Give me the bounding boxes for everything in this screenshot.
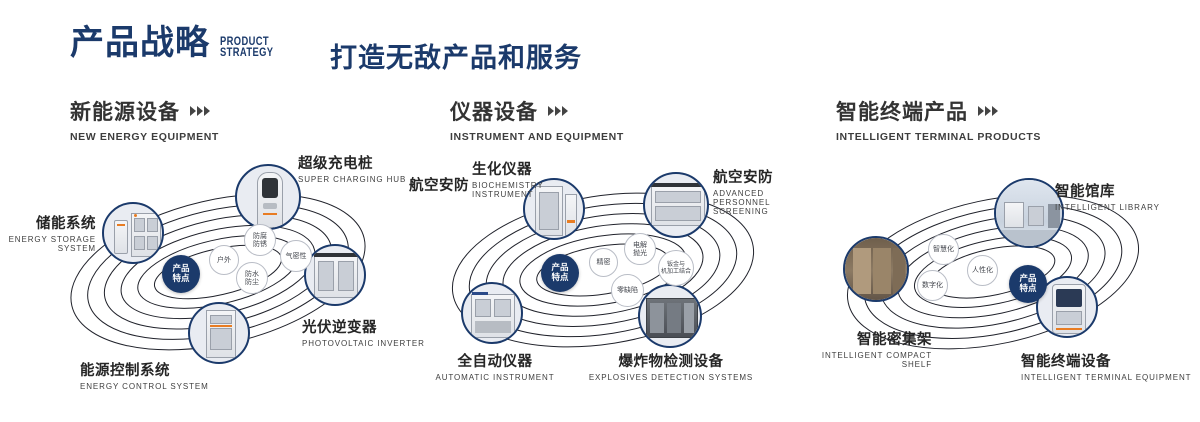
node-intelligent-library[interactable] [994, 178, 1064, 248]
section-title-instrument: 仪器设备 INSTRUMENT AND EQUIPMENT [450, 96, 624, 143]
caption-energy-control-system: 能源控制系统 ENERGY CONTROL SYSTEM [80, 359, 209, 391]
caption-en: PHOTOVOLTAIC INVERTER [302, 339, 425, 348]
pill-line1: 产品 [551, 263, 568, 273]
caption-en: ADVANCED PERSONNEL SCREENING [713, 189, 807, 216]
node-photovoltaic-inverter[interactable] [304, 244, 366, 306]
page-subtitle: 打造无敌产品和服务 [330, 36, 582, 75]
pill-digital[interactable]: 数字化 [917, 270, 948, 301]
caption-en: INTELLIGENT COMPACT SHELF [807, 351, 932, 369]
caption-intelligent-compact-shelf: 智能密集架 INTELLIGENT COMPACT SHELF [807, 328, 932, 369]
pill-waterproof[interactable]: 防水 防尘 [236, 262, 268, 294]
page-header: 产品战略 PRODUCT STRATEGY [70, 26, 288, 60]
intelligent-library-photo [996, 180, 1062, 246]
caption-cn: 生化仪器 [472, 158, 550, 179]
caption-cn: 光伏逆变器 [302, 316, 425, 337]
section-title-cn: 仪器设备 [450, 96, 538, 126]
product-strategy-infographic: 产品战略 PRODUCT STRATEGY 打造无敌产品和服务 新能源设备 NE… [0, 0, 1200, 422]
chevron-right-icon [978, 106, 998, 116]
pill-line2: 防锈 [253, 240, 267, 249]
caption-cn: 全自动仪器 [420, 350, 570, 371]
caption-automatic-instrument: 全自动仪器 AUTOMATIC INSTRUMENT [420, 350, 570, 382]
pill-line1: 气密性 [286, 252, 307, 261]
node-super-charging-hub[interactable] [235, 164, 301, 230]
caption-cn: 爆炸物检测设备 [588, 350, 754, 371]
caption-advanced-personnel-screening: 航空安防 ADVANCED PERSONNEL SCREENING [713, 166, 807, 216]
caption-en: BIOCHEMISTRY INSTRUMENT [472, 181, 550, 199]
pill-electropolishing[interactable]: 电解 抛光 [624, 233, 656, 265]
caption-cn: 智能终端设备 [1021, 350, 1191, 371]
pill-outdoor[interactable]: 户外 [209, 245, 239, 275]
charging-hub-photo [237, 166, 299, 228]
cluster-intelligent-terminal: 智慧化 数字化 人性化 产品 特点 智能馆库 INTELLIGENT LIBRA… [815, 150, 1200, 390]
compact-shelf-photo [845, 238, 907, 300]
pill-line2: 特点 [1019, 284, 1036, 294]
caption-cn: 储能系统 [0, 212, 96, 233]
pill-line2: 特点 [172, 274, 189, 284]
node-energy-storage-system[interactable] [102, 202, 164, 264]
pill-line2: 防尘 [245, 278, 259, 287]
pill-zero-defect[interactable]: 零缺陷 [611, 274, 644, 307]
cluster-instrument: 产品 特点 精密 电解 抛光 零缺陷 钣金与 机加工结合 航空安防 生化仪器 B… [425, 150, 825, 390]
pill-line1: 精密 [597, 258, 611, 267]
node-intelligent-compact-shelf[interactable] [843, 236, 909, 302]
caption-energy-storage-system: 储能系统 ENERGY STORAGE SYSTEM [0, 212, 96, 253]
section-title-new-energy: 新能源设备 NEW ENERGY EQUIPMENT [70, 96, 219, 143]
pill-product-features[interactable]: 产品 特点 [1009, 265, 1047, 303]
explosives-detection-photo [640, 286, 700, 346]
chevron-right-icon [548, 106, 568, 116]
control-system-photo [190, 304, 248, 362]
energy-storage-photo [104, 204, 162, 262]
pill-line1: 钣金与 [667, 261, 685, 269]
pill-line1: 数字化 [922, 281, 943, 290]
caption-explosives-detection-systems: 爆炸物检测设备 EXPLOSIVES DETECTION SYSTEMS [588, 350, 754, 382]
node-energy-control-system[interactable] [188, 302, 250, 364]
pill-product-features[interactable]: 产品 特点 [162, 255, 200, 293]
pill-line2: 特点 [551, 273, 568, 283]
caption-en: AUTOMATIC INSTRUMENT [420, 373, 570, 382]
section-title-intelligent-terminal: 智能终端产品 INTELLIGENT TERMINAL PRODUCTS [836, 96, 1041, 143]
caption-en: EXPLOSIVES DETECTION SYSTEMS [588, 373, 754, 382]
page-title-en-line2: STRATEGY [220, 47, 273, 58]
caption-cn: 智能馆库 [1055, 180, 1160, 201]
chevron-right-icon [190, 106, 210, 116]
caption-cn: 航空安防 [409, 174, 469, 195]
automatic-instrument-photo [463, 284, 521, 342]
page-title-cn: 产品战略 [70, 26, 210, 60]
section-title-cn: 新能源设备 [70, 96, 180, 126]
caption-photovoltaic-inverter: 光伏逆变器 PHOTOVOLTAIC INVERTER [302, 316, 425, 348]
caption-en: ENERGY STORAGE SYSTEM [0, 235, 96, 253]
pill-line1: 产品 [172, 264, 189, 274]
caption-intelligent-terminal-equipment: 智能终端设备 INTELLIGENT TERMINAL EQUIPMENT [1021, 350, 1191, 382]
section-title-en: INSTRUMENT AND EQUIPMENT [450, 131, 624, 143]
pill-line1: 防腐 [253, 232, 267, 241]
caption-cn: 能源控制系统 [80, 359, 209, 380]
section-title-en: INTELLIGENT TERMINAL PRODUCTS [836, 131, 1041, 143]
caption-intelligent-library: 智能馆库 INTELLIGENT LIBRARY [1055, 180, 1160, 212]
node-advanced-personnel-screening[interactable] [643, 172, 709, 238]
caption-cn: 航空安防 [713, 166, 807, 187]
pill-line1: 智慧化 [933, 245, 954, 254]
page-title-en: PRODUCT STRATEGY [220, 36, 273, 58]
section-title-en: NEW ENERGY EQUIPMENT [70, 131, 219, 143]
node-explosives-detection-systems[interactable] [638, 284, 702, 348]
pill-humanized[interactable]: 人性化 [967, 255, 998, 286]
caption-en: INTELLIGENT LIBRARY [1055, 203, 1160, 212]
pill-anticorrosion[interactable]: 防腐 防锈 [244, 224, 276, 256]
pill-line1: 电解 [633, 241, 647, 250]
pill-precision[interactable]: 精密 [589, 248, 618, 277]
pill-line2: 机加工结合 [661, 268, 691, 276]
cluster-new-energy: 产品 特点 户外 防腐 防锈 防水 防尘 气密性 储能系统 ENERGY STO… [40, 150, 430, 390]
caption-super-charging-hub: 超级充电桩 SUPER CHARGING HUB [298, 152, 406, 184]
caption-cn: 超级充电桩 [298, 152, 406, 173]
pill-line1: 零缺陷 [617, 286, 638, 295]
screening-photo [645, 174, 707, 236]
pill-line2: 抛光 [633, 249, 647, 258]
node-automatic-instrument[interactable] [461, 282, 523, 344]
caption-biochemistry-instrument: 生化仪器 BIOCHEMISTRY INSTRUMENT [472, 158, 550, 199]
pill-smart[interactable]: 智慧化 [928, 234, 959, 265]
pill-sheetmetal-machining[interactable]: 钣金与 机加工结合 [658, 250, 694, 286]
section-title-cn: 智能终端产品 [836, 96, 968, 126]
caption-en: ENERGY CONTROL SYSTEM [80, 382, 209, 391]
caption-cn: 智能密集架 [807, 328, 932, 349]
pill-airtightness[interactable]: 气密性 [280, 240, 312, 272]
pill-line1: 人性化 [972, 266, 993, 275]
pill-product-features[interactable]: 产品 特点 [541, 254, 579, 292]
pill-line1: 防水 [245, 270, 259, 279]
pill-line1: 户外 [217, 256, 231, 265]
caption-en: SUPER CHARGING HUB [298, 175, 406, 184]
inverter-photo [306, 246, 364, 304]
caption-aviation-security-left: 航空安防 [409, 174, 469, 195]
caption-en: INTELLIGENT TERMINAL EQUIPMENT [1021, 373, 1191, 382]
pill-line1: 产品 [1019, 274, 1036, 284]
